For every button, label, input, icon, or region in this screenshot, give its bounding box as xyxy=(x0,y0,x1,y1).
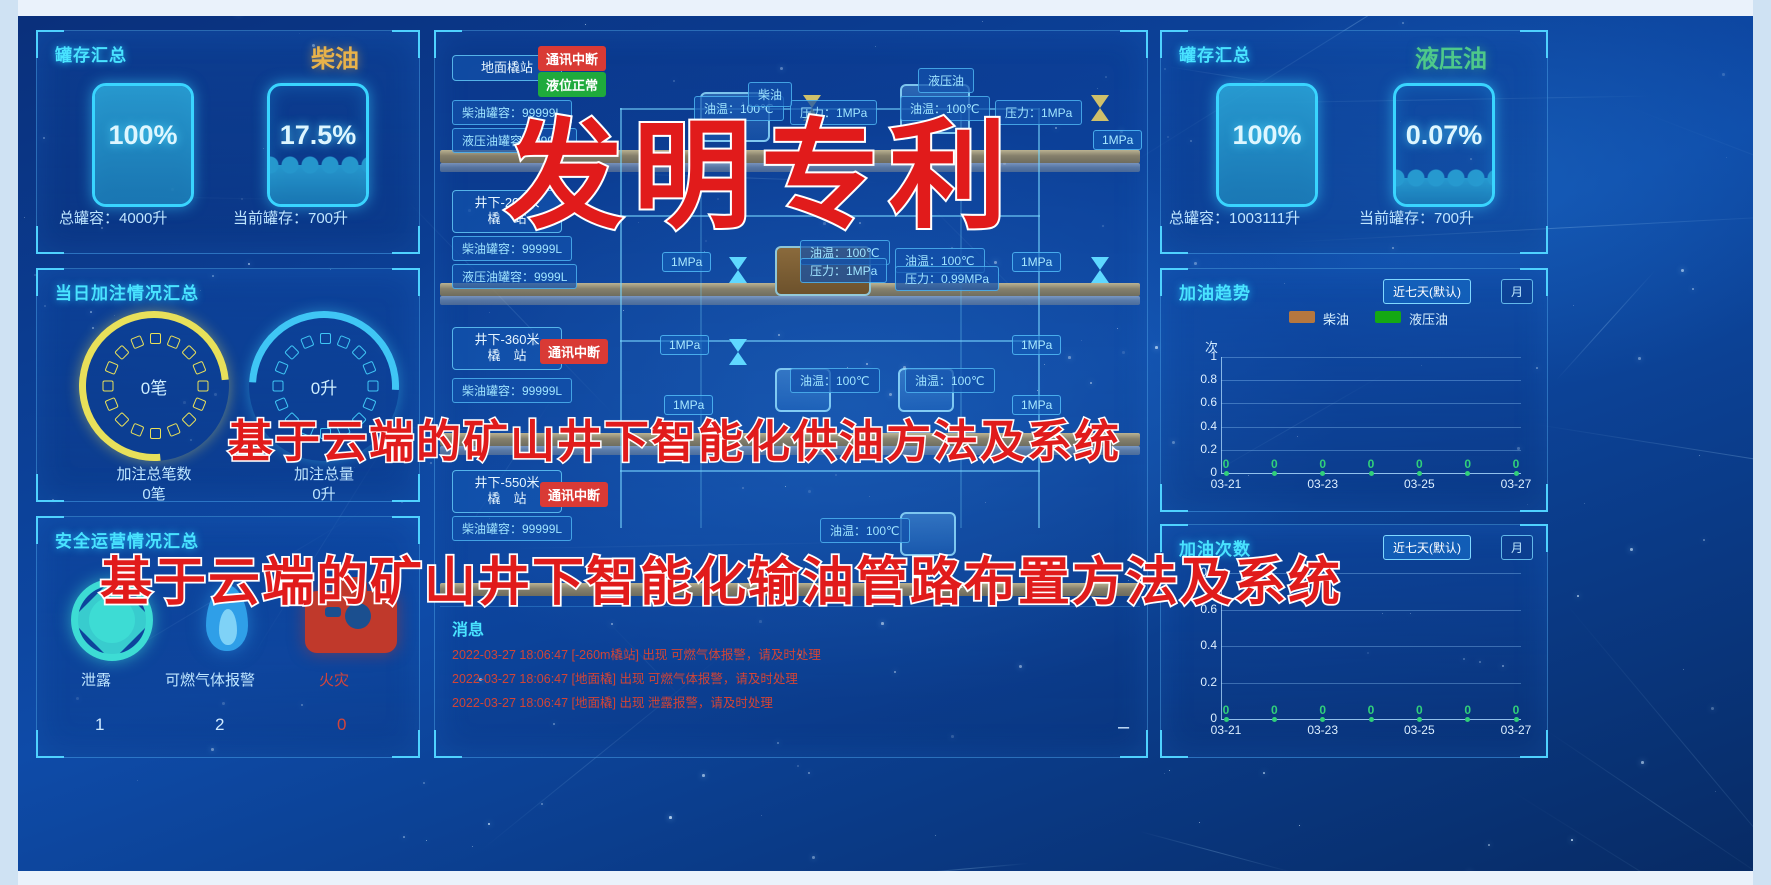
chart-x-tick-label: 03-25 xyxy=(1395,477,1443,491)
panel-corner-decoration xyxy=(1160,484,1188,512)
strata-bar xyxy=(440,296,1140,305)
chart-data-point xyxy=(1417,471,1422,476)
frame-border-left xyxy=(0,0,18,885)
chart-point-label: 0 xyxy=(1458,457,1478,471)
gauge-volume-sublabel: 0升 xyxy=(249,485,399,505)
panel-right-tank-summary: 罐存汇总 液压油 100% 总罐容：1003111升 0.07% 当前罐存：70… xyxy=(1160,30,1548,254)
panel-corner-decoration xyxy=(1160,730,1188,758)
chart-data-point xyxy=(1224,471,1229,476)
chart-point-label: 0 xyxy=(1506,457,1526,471)
tank-total-capacity-caption: 总罐容：4000升 xyxy=(59,207,167,228)
chart-x-tick-label: 03-27 xyxy=(1492,477,1540,491)
watermark-patent: 发明专利 xyxy=(505,80,1017,251)
gauge-value-count: 0笔 xyxy=(79,311,229,461)
chart-gridline xyxy=(1221,380,1521,381)
chart-data-point xyxy=(1465,471,1470,476)
message-line: 2022-03-27 18:06:47 [地面橇] 出现 可燃气体报警，请及时处… xyxy=(452,668,798,687)
chart-gridline xyxy=(1221,403,1521,404)
pipe-segment xyxy=(620,470,1040,472)
tank-gauge-current-diesel: 17.5% xyxy=(267,83,369,207)
chart-x-tick-label: 03-23 xyxy=(1299,723,1347,737)
tank-percent-value: 100% xyxy=(1219,120,1315,151)
watermark-title-supply: 基于云端的矿山井下智能化供油方法及系统 xyxy=(228,405,1121,470)
panel-corner-decoration xyxy=(1160,226,1188,254)
safety-value-fire: 0 xyxy=(337,715,346,735)
safety-label-fire: 火灾 xyxy=(319,669,349,690)
tank-fill-level xyxy=(1396,178,1492,204)
chart-data-point xyxy=(1369,471,1374,476)
tank-gauge-current-hydraulic: 0.07% xyxy=(1393,83,1495,207)
chart-data-point xyxy=(1514,471,1519,476)
chart-point-label: 0 xyxy=(1216,457,1236,471)
chart-title-refuel-trend: 加油趋势 xyxy=(1179,279,1251,304)
panel-corner-decoration xyxy=(1120,30,1148,58)
panel-left-tank-summary: 罐存汇总 柴油 100% 总罐容：4000升 17.5% 当前罐存：700升 xyxy=(36,30,420,254)
chart-point-label: 0 xyxy=(1409,457,1429,471)
chart-y-tick-label: 0.8 xyxy=(1187,372,1217,386)
watermark-title-pipeline: 基于云端的矿山井下智能化输油管路布置方法及系统 xyxy=(100,540,1342,615)
chart-data-point xyxy=(1320,471,1325,476)
panel-corner-decoration xyxy=(36,730,64,758)
range-button-month[interactable]: 月 xyxy=(1501,535,1533,560)
chart-data-point xyxy=(1369,717,1374,722)
tank-gauge-total-diesel: 100% xyxy=(92,83,194,207)
chart-point-label: 0 xyxy=(1361,457,1381,471)
tank-current-stock-caption: 当前罐存：700升 xyxy=(1359,207,1474,228)
pressure-tag: 1MPa xyxy=(660,335,709,355)
chart-point-label: 0 xyxy=(1361,703,1381,717)
gauge-refuel-count: 0笔 xyxy=(79,311,229,461)
chart-point-label: 0 xyxy=(1506,703,1526,717)
panel-corner-decoration xyxy=(392,268,420,296)
pressure-tag: 1MPa xyxy=(1093,130,1142,150)
station-badge-comm-550m: 通讯中断 xyxy=(540,482,608,507)
chart-gridline xyxy=(1221,450,1521,451)
frame-border-bottom xyxy=(0,871,1771,885)
tank-fill-level xyxy=(270,165,366,204)
chart-point-label: 0 xyxy=(1216,703,1236,717)
panel-title-daily-refuel: 当日加注情况汇总 xyxy=(55,279,199,304)
safety-label-leak: 泄露 xyxy=(81,669,111,690)
chart-data-point xyxy=(1417,717,1422,722)
chart-y-tick-label: 0.4 xyxy=(1187,419,1217,433)
safety-label-gas-alarm: 可燃气体报警 xyxy=(165,669,255,690)
panel-corner-decoration xyxy=(36,474,64,502)
sensor-chip: 压力：0.99MPa xyxy=(895,266,999,291)
chart-point-label: 0 xyxy=(1313,457,1333,471)
sensor-chip: 压力：1MPa xyxy=(800,258,887,283)
chart-x-tick-label: 03-27 xyxy=(1492,723,1540,737)
gauge-count-label: 加注总笔数 xyxy=(79,465,229,485)
chart-data-point xyxy=(1465,717,1470,722)
chart-gridline xyxy=(1221,646,1521,647)
sensor-chip: 油温：100℃ xyxy=(790,368,880,393)
chart-point-label: 0 xyxy=(1264,703,1284,717)
chart-data-point xyxy=(1224,717,1229,722)
message-panel-title: 消息 xyxy=(452,616,484,640)
chart-gridline xyxy=(1221,357,1521,358)
station-chip-diesel-550m: 柴油罐容：99999L xyxy=(452,516,572,541)
chart-y-tick-label: 0.4 xyxy=(1187,638,1217,652)
panel-corner-decoration xyxy=(392,30,420,58)
legend-label-hydraulic[interactable]: 液压油 xyxy=(1409,309,1448,328)
range-button-seven-days[interactable]: 近七天(默认) xyxy=(1383,279,1471,304)
tank-current-stock-caption: 当前罐存：700升 xyxy=(233,207,348,228)
chart-y-tick-label: 1 xyxy=(1187,349,1217,363)
chart-data-point xyxy=(1514,717,1519,722)
chart-x-tick-label: 03-21 xyxy=(1202,723,1250,737)
chart-point-label: 0 xyxy=(1458,703,1478,717)
chart-point-label: 0 xyxy=(1313,703,1333,717)
station-chip-diesel-360m: 柴油罐容：99999L xyxy=(452,378,572,403)
message-line: 2022-03-27 18:06:47 [地面橇] 出现 泄露报警，请及时处理 xyxy=(452,692,773,711)
chart-y-tick-label: 0.6 xyxy=(1187,395,1217,409)
chart-x-tick-label: 03-25 xyxy=(1395,723,1443,737)
chart-gridline xyxy=(1221,427,1521,428)
pressure-tag: 1MPa xyxy=(662,252,711,272)
chart-data-point xyxy=(1320,717,1325,722)
panel-corner-decoration xyxy=(1520,30,1548,58)
tank-gauge-total-hydraulic: 100% xyxy=(1216,83,1318,207)
message-line: 2022-03-27 18:06:47 [-260m橇站] 出现 可燃气体报警，… xyxy=(452,644,821,663)
chart-data-point xyxy=(1272,471,1277,476)
panel-title-right-tank: 罐存汇总 xyxy=(1179,41,1251,66)
chart-x-tick-label: 03-21 xyxy=(1202,477,1250,491)
station-badge-comm-360m: 通讯中断 xyxy=(540,339,608,364)
panel-corner-decoration xyxy=(36,226,64,254)
chart-plot-area: 10.80.60.40.20000000003-2103-2303-2503-2… xyxy=(1221,357,1521,487)
frame-border-top xyxy=(0,0,1771,16)
chart-y-axis-line xyxy=(1221,357,1222,473)
sensor-chip: 油温：100℃ xyxy=(905,368,995,393)
chart-point-label: 0 xyxy=(1409,703,1429,717)
chart-point-label: 0 xyxy=(1264,457,1284,471)
legend-swatch-hydraulic[interactable] xyxy=(1375,311,1401,323)
tank-percent-value: 0.07% xyxy=(1396,120,1492,151)
chart-y-tick-label: 0.2 xyxy=(1187,442,1217,456)
pressure-tag: 1MPa xyxy=(1012,335,1061,355)
safety-value-leak: 1 xyxy=(95,715,104,735)
pressure-tag: 1MPa xyxy=(1012,252,1061,272)
chart-data-point xyxy=(1272,717,1277,722)
range-button-seven-days[interactable]: 近七天(默认) xyxy=(1383,535,1471,560)
chart-gridline xyxy=(1221,683,1521,684)
tank-total-capacity-caption: 总罐容：1003111升 xyxy=(1169,207,1300,228)
gauge-count-sublabel: 0笔 xyxy=(79,485,229,505)
range-button-month[interactable]: 月 xyxy=(1501,279,1533,304)
tank-percent-value: 17.5% xyxy=(270,120,366,151)
frame-border-right xyxy=(1753,0,1771,885)
chart-x-tick-label: 03-23 xyxy=(1299,477,1347,491)
fuel-type-label-diesel: 柴油 xyxy=(311,39,359,74)
panel-title-left-tank: 罐存汇总 xyxy=(55,41,127,66)
fuel-type-label-hydraulic: 液压油 xyxy=(1415,39,1487,74)
tank-percent-value: 100% xyxy=(95,120,191,151)
legend-swatch-diesel[interactable] xyxy=(1289,311,1315,323)
legend-label-diesel[interactable]: 柴油 xyxy=(1323,309,1349,328)
safety-value-gas-alarm: 2 xyxy=(215,715,224,735)
chart-y-tick-label: 0.2 xyxy=(1187,675,1217,689)
collapse-icon[interactable]: – xyxy=(1118,716,1129,739)
panel-refuel-trend-chart: 加油趋势 近七天(默认) 月 柴油 液压油 次 10.80.60.40.2000… xyxy=(1160,268,1548,512)
dashboard-root: 罐存汇总 柴油 100% 总罐容：4000升 17.5% 当前罐存：700升 当… xyxy=(0,0,1771,885)
station-badge-comm-surface: 通讯中断 xyxy=(538,46,606,71)
station-chip-hydraulic-200m: 液压油罐容：9999L xyxy=(452,264,577,289)
